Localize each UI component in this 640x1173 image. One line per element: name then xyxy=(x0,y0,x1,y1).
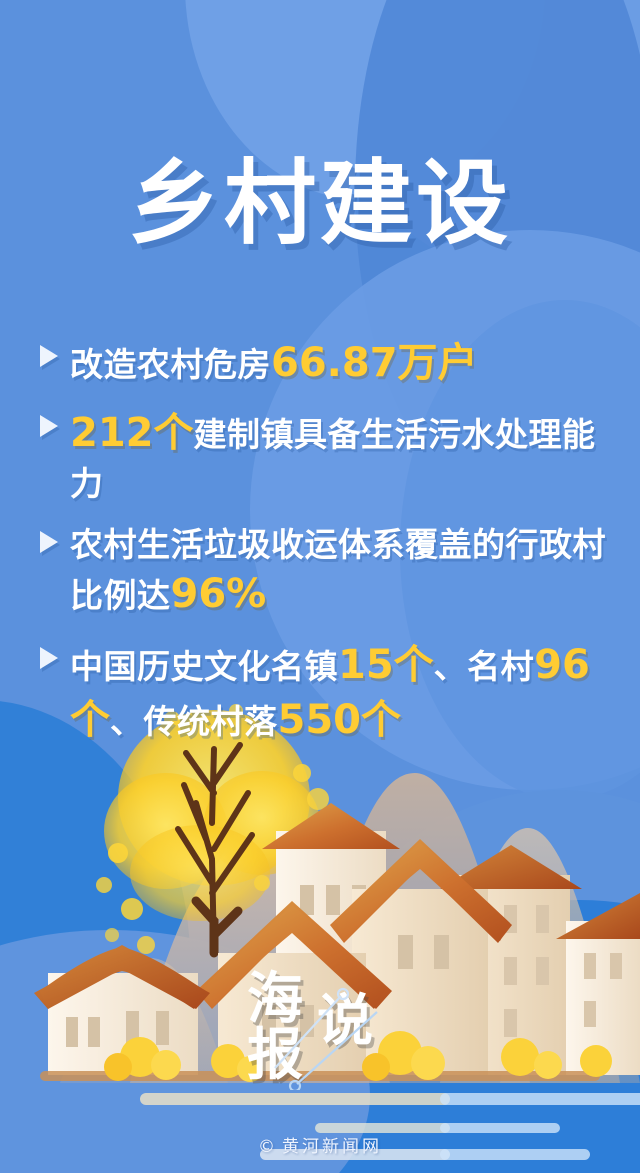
poster-canvas: 乡村建设 改造农村危房66.87万户 212个建制镇具备生活污水处理能力 农村生… xyxy=(0,0,640,1173)
stat-label: 中国历史文化名镇 xyxy=(70,647,338,686)
list-item-text: 中国历史文化名镇15个、名村96个、传统村落550个 xyxy=(70,638,624,748)
list-item: 农村生活垃圾收运体系覆盖的行政村比例达96% xyxy=(34,522,624,623)
triangle-right-icon xyxy=(34,531,64,553)
copyright-footer: ©黄河新闻网 xyxy=(0,1132,640,1157)
stat-label: 农村生活垃圾收运体系覆盖的行政村比例达 xyxy=(70,525,606,616)
statistics-list: 改造农村危房66.87万户 212个建制镇具备生活污水处理能力 农村生活垃圾收运… xyxy=(34,336,624,763)
list-item: 中国历史文化名镇15个、名村96个、传统村落550个 xyxy=(34,638,624,748)
list-item-text: 212个建制镇具备生活污水处理能力 xyxy=(70,406,624,507)
triangle-right-icon xyxy=(34,647,64,669)
copyright-icon: © xyxy=(258,1137,278,1157)
stat-value: 550个 xyxy=(278,697,402,743)
stat-label: 、名村 xyxy=(434,647,535,686)
stat-value: 66.87万户 xyxy=(271,340,478,386)
list-item: 改造农村危房66.87万户 xyxy=(34,336,624,391)
publisher-name: 黄河新闻网 xyxy=(282,1137,382,1157)
page-title-text: 乡村建设 xyxy=(128,158,512,250)
page-title: 乡村建设 xyxy=(0,158,640,250)
stat-value: 15个 xyxy=(338,642,434,688)
triangle-right-icon xyxy=(34,415,64,437)
stat-value: 96% xyxy=(171,571,267,617)
stat-label: 、传统村落 xyxy=(110,702,278,741)
stat-value: 212个 xyxy=(70,410,194,456)
list-item-text: 农村生活垃圾收运体系覆盖的行政村比例达96% xyxy=(70,522,624,623)
triangle-right-icon xyxy=(34,345,64,367)
stat-label: 改造农村危房 xyxy=(70,345,271,384)
list-item: 212个建制镇具备生活污水处理能力 xyxy=(34,406,624,507)
list-item-text: 改造农村危房66.87万户 xyxy=(70,336,624,391)
